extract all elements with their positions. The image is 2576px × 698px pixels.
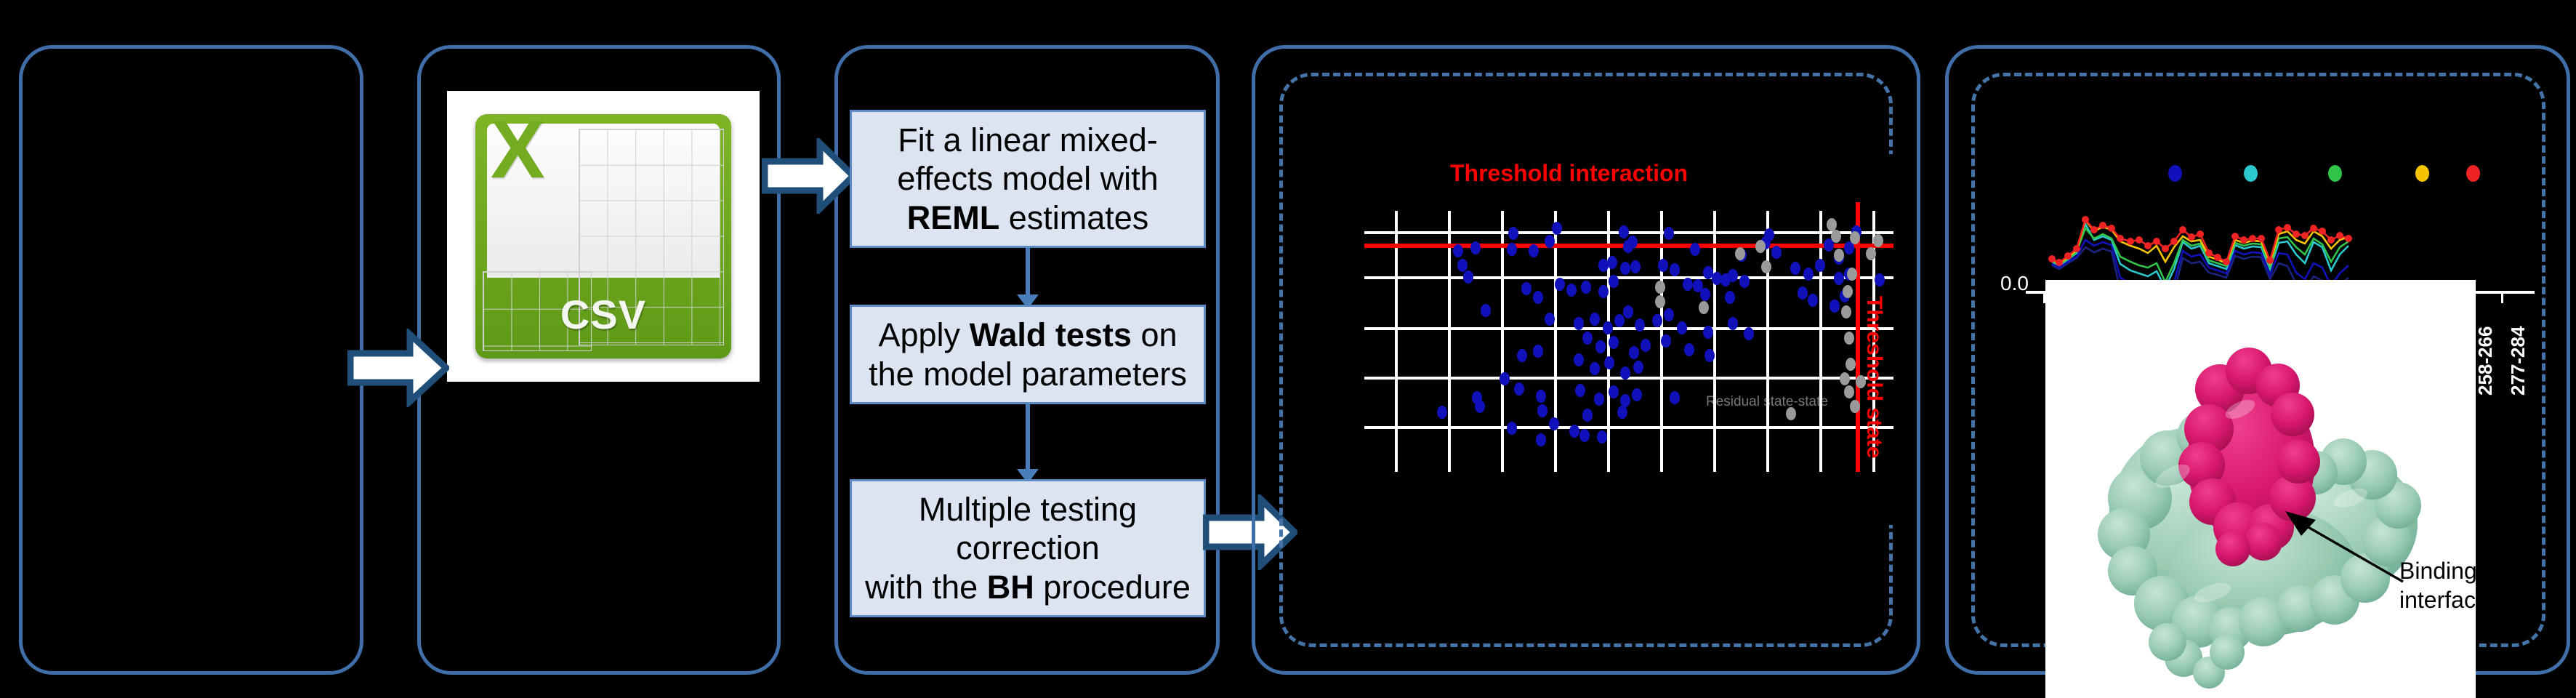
scatter-point: [1664, 308, 1674, 321]
protein-surface-render: [2045, 280, 2476, 698]
scatter-point: [1500, 372, 1510, 385]
scatter-point: [1533, 345, 1543, 358]
gridline-v: [1713, 211, 1716, 462]
scatter-point-ns: [1655, 281, 1665, 294]
step-box-bh[interactable]: Multiple testing correction with the BH …: [850, 479, 1206, 617]
bh-line-3-head: with the: [865, 569, 987, 606]
scatter-point: [1658, 259, 1668, 272]
threshold-interaction-label: Threshold interaction: [1450, 160, 1688, 187]
scatter-point: [1574, 317, 1584, 330]
scatter-point: [1614, 314, 1625, 327]
csv-label: CSV: [475, 273, 732, 356]
axis-tick: [1872, 462, 1875, 472]
axis-tick: [2501, 294, 2503, 303]
axis-tick: [1607, 462, 1610, 472]
scatter-point: [1603, 321, 1613, 334]
scatter-point: [1703, 326, 1713, 339]
scatter-point: [1598, 285, 1609, 298]
scatter-point: [1437, 406, 1447, 419]
y-axis-tick-label: 0.0: [2000, 272, 2029, 295]
scatter-point: [1670, 391, 1680, 404]
scatter-point: [1623, 240, 1633, 253]
scatter-point: [1545, 235, 1555, 248]
scatter-point: [1475, 400, 1485, 413]
scatter-point: [1875, 273, 1885, 286]
bh-line-3: with the BH procedure: [865, 568, 1191, 606]
wald-line-1: Apply Wald tests on: [869, 316, 1187, 354]
protein-structure-card: Binding interface: [2045, 280, 2476, 698]
axis-tick: [1766, 462, 1769, 472]
scatter-point-ns: [1847, 268, 1857, 281]
gridline-h: [1364, 276, 1893, 279]
scatter-point: [1670, 263, 1680, 276]
scatter-point: [1508, 227, 1518, 240]
bh-line-1: Multiple testing: [865, 490, 1191, 529]
wald-line-1-tail: on: [1132, 316, 1178, 353]
scatter-point-ns: [1786, 407, 1796, 420]
axis-tick: [1819, 462, 1822, 472]
scatter-point: [1604, 356, 1614, 369]
scatter-point: [1620, 366, 1630, 380]
scatter-point-ns: [1841, 305, 1851, 318]
scatter-point: [1617, 406, 1627, 419]
gridline-h: [1364, 327, 1893, 330]
scatter-point: [1704, 349, 1715, 362]
reml-line-3-tail: estimates: [999, 199, 1148, 236]
scatter-point: [1514, 382, 1524, 396]
gridline-h: [1364, 231, 1893, 234]
scatter-point: [1566, 284, 1577, 297]
scatter-point: [1607, 256, 1617, 269]
scatter-plot: Threshold interaction Residual state-sta…: [1348, 154, 1901, 525]
scatter-point-ns: [1846, 358, 1856, 371]
step-box-reml[interactable]: Fit a linear mixed- effects model with R…: [850, 110, 1206, 248]
scatter-point: [1633, 361, 1643, 374]
bh-bold-term: BH: [987, 569, 1034, 606]
scatter-point: [1790, 262, 1800, 275]
axis-tick: [1448, 462, 1451, 472]
scatter-point: [1609, 275, 1619, 288]
scatter-point: [1574, 353, 1584, 366]
scatter-point: [1517, 349, 1527, 362]
scatter-point: [1683, 278, 1693, 291]
axis-tick: [1660, 462, 1663, 472]
scatter-point: [1684, 343, 1694, 356]
gridline-v: [1607, 211, 1610, 462]
scatter-point: [1635, 318, 1645, 332]
scatter-point: [1529, 244, 1539, 257]
scatter-point: [1552, 222, 1562, 235]
scatter-point-ns: [1840, 372, 1850, 385]
scatter-point-ns: [1735, 247, 1745, 260]
excel-x-glyph: X: [491, 114, 545, 190]
scatter-point: [1744, 327, 1754, 340]
scatter-point: [1453, 244, 1463, 257]
axis-tick: [1554, 462, 1557, 472]
connector-reml-to-wald: [1026, 248, 1030, 299]
scatter-point: [1575, 384, 1585, 397]
scatter-point: [1457, 259, 1468, 272]
scatter-point-ns: [1866, 247, 1876, 260]
scatter-point: [1581, 281, 1591, 294]
axis-tick: [1713, 462, 1716, 472]
scatter-point-ns: [1755, 240, 1766, 253]
scatter-point: [1549, 417, 1559, 430]
reml-line-2: effects model with: [897, 159, 1158, 198]
scatter-point: [1609, 385, 1619, 398]
scatter-point: [1536, 390, 1546, 403]
scatter-point: [1641, 339, 1651, 352]
step-box-wald[interactable]: Apply Wald tests on the model parameters: [850, 305, 1206, 404]
scatter-point: [1728, 269, 1738, 282]
scatter-point: [1728, 317, 1738, 330]
scatter-point: [1830, 300, 1840, 313]
peptide-line-chart: [1995, 138, 2533, 294]
scatter-point: [1569, 425, 1579, 438]
scatter-point: [1630, 260, 1641, 273]
reml-line-1: Fit a linear mixed-: [897, 121, 1158, 159]
arrow-csv-to-analysis: [762, 138, 856, 214]
scatter-point: [1609, 336, 1619, 349]
scatter-point: [1507, 422, 1517, 435]
bh-line-2: correction: [865, 529, 1191, 567]
connector-wald-to-bh: [1026, 404, 1030, 473]
peptide-tick-label: 277-284: [2507, 326, 2529, 396]
scatter-point: [1537, 404, 1547, 417]
scatter-point: [1798, 286, 1808, 300]
wald-line-2: the model parameters: [869, 355, 1187, 393]
scatter-point: [1594, 393, 1604, 406]
scatter-point: [1545, 313, 1555, 326]
scatter-point: [1700, 288, 1710, 301]
scatter-point-ns: [1844, 385, 1854, 398]
scatter-point: [1632, 388, 1642, 401]
scatter-point: [1661, 334, 1671, 348]
figure-canvas: X CSV Fit a linear mixed- effects model …: [0, 0, 2576, 687]
scatter-point: [1579, 429, 1590, 442]
scatter-point: [1590, 362, 1600, 375]
bh-line-3-tail: procedure: [1034, 569, 1191, 606]
reml-line-3: REML estimates: [897, 198, 1158, 237]
scatter-point: [1834, 272, 1844, 285]
peptide-series-plot: [1995, 138, 2533, 294]
axis-tick: [1395, 462, 1398, 472]
gridline-v: [1501, 211, 1504, 462]
scatter-point: [1536, 433, 1546, 446]
scatter-point: [1690, 243, 1700, 256]
scatter-point: [1555, 278, 1565, 291]
scatter-point-ns: [1761, 260, 1771, 273]
arrow-source-to-csv: [347, 329, 449, 407]
scatter-point: [1582, 409, 1593, 422]
scatter-point-ns: [1699, 301, 1709, 314]
scatter-point: [1590, 313, 1600, 326]
scatter-point: [1595, 340, 1606, 353]
reml-bold-term: REML: [907, 199, 1000, 236]
scatter-point-ns: [1834, 249, 1844, 262]
scatter-point: [1808, 294, 1818, 307]
scatter-point-ns: [1844, 332, 1854, 345]
scatter-point-ns: [1843, 285, 1853, 298]
panel-data-source: [19, 45, 363, 675]
gridline-v: [1819, 211, 1822, 462]
scatter-point: [1771, 246, 1782, 259]
scatter-inner-axis-text: Residual state-state: [1706, 394, 1828, 410]
wald-bold-term: Wald tests: [970, 316, 1132, 353]
scatter-point: [1582, 332, 1593, 345]
scatter-point: [1629, 346, 1639, 359]
scatter-point: [1619, 225, 1629, 238]
scatter-point: [1507, 243, 1517, 256]
scatter-point: [1521, 282, 1531, 295]
scatter-point: [1677, 321, 1687, 334]
scatter-point: [1470, 241, 1481, 254]
scatter-point-ns: [1873, 234, 1883, 247]
scatter-plot-area: Residual state-state: [1364, 211, 1893, 462]
scatter-point: [1463, 270, 1473, 284]
scatter-point: [1739, 275, 1750, 288]
csv-file-card: X CSV: [447, 91, 760, 382]
scatter-point: [1725, 291, 1735, 304]
scatter-point-ns: [1850, 231, 1860, 244]
gridline-h: [1364, 426, 1893, 429]
scatter-point: [1620, 262, 1630, 275]
scatter-point-ns: [1850, 400, 1860, 413]
axis-tick: [1501, 462, 1504, 472]
peptide-tick-label: 258-266: [2474, 326, 2497, 396]
gridline-v: [1448, 211, 1451, 462]
scatter-point: [1815, 259, 1825, 272]
wald-line-1-head: Apply: [878, 316, 969, 353]
scatter-point-ns: [1655, 295, 1665, 308]
threshold-state-label: Threshold state: [1861, 296, 1886, 458]
csv-file-icon: X CSV: [475, 114, 732, 358]
scatter-point: [1664, 227, 1674, 240]
gridline-v: [1395, 211, 1398, 462]
scatter-point: [1623, 305, 1633, 318]
binding-interface-label: Binding interface: [2399, 556, 2476, 614]
scatter-point: [1597, 430, 1607, 444]
scatter-point: [1803, 268, 1814, 281]
scatter-point: [1481, 304, 1491, 317]
scatter-point: [1652, 314, 1662, 327]
scatter-point: [1533, 291, 1543, 304]
scatter-point-ns: [1831, 230, 1841, 243]
